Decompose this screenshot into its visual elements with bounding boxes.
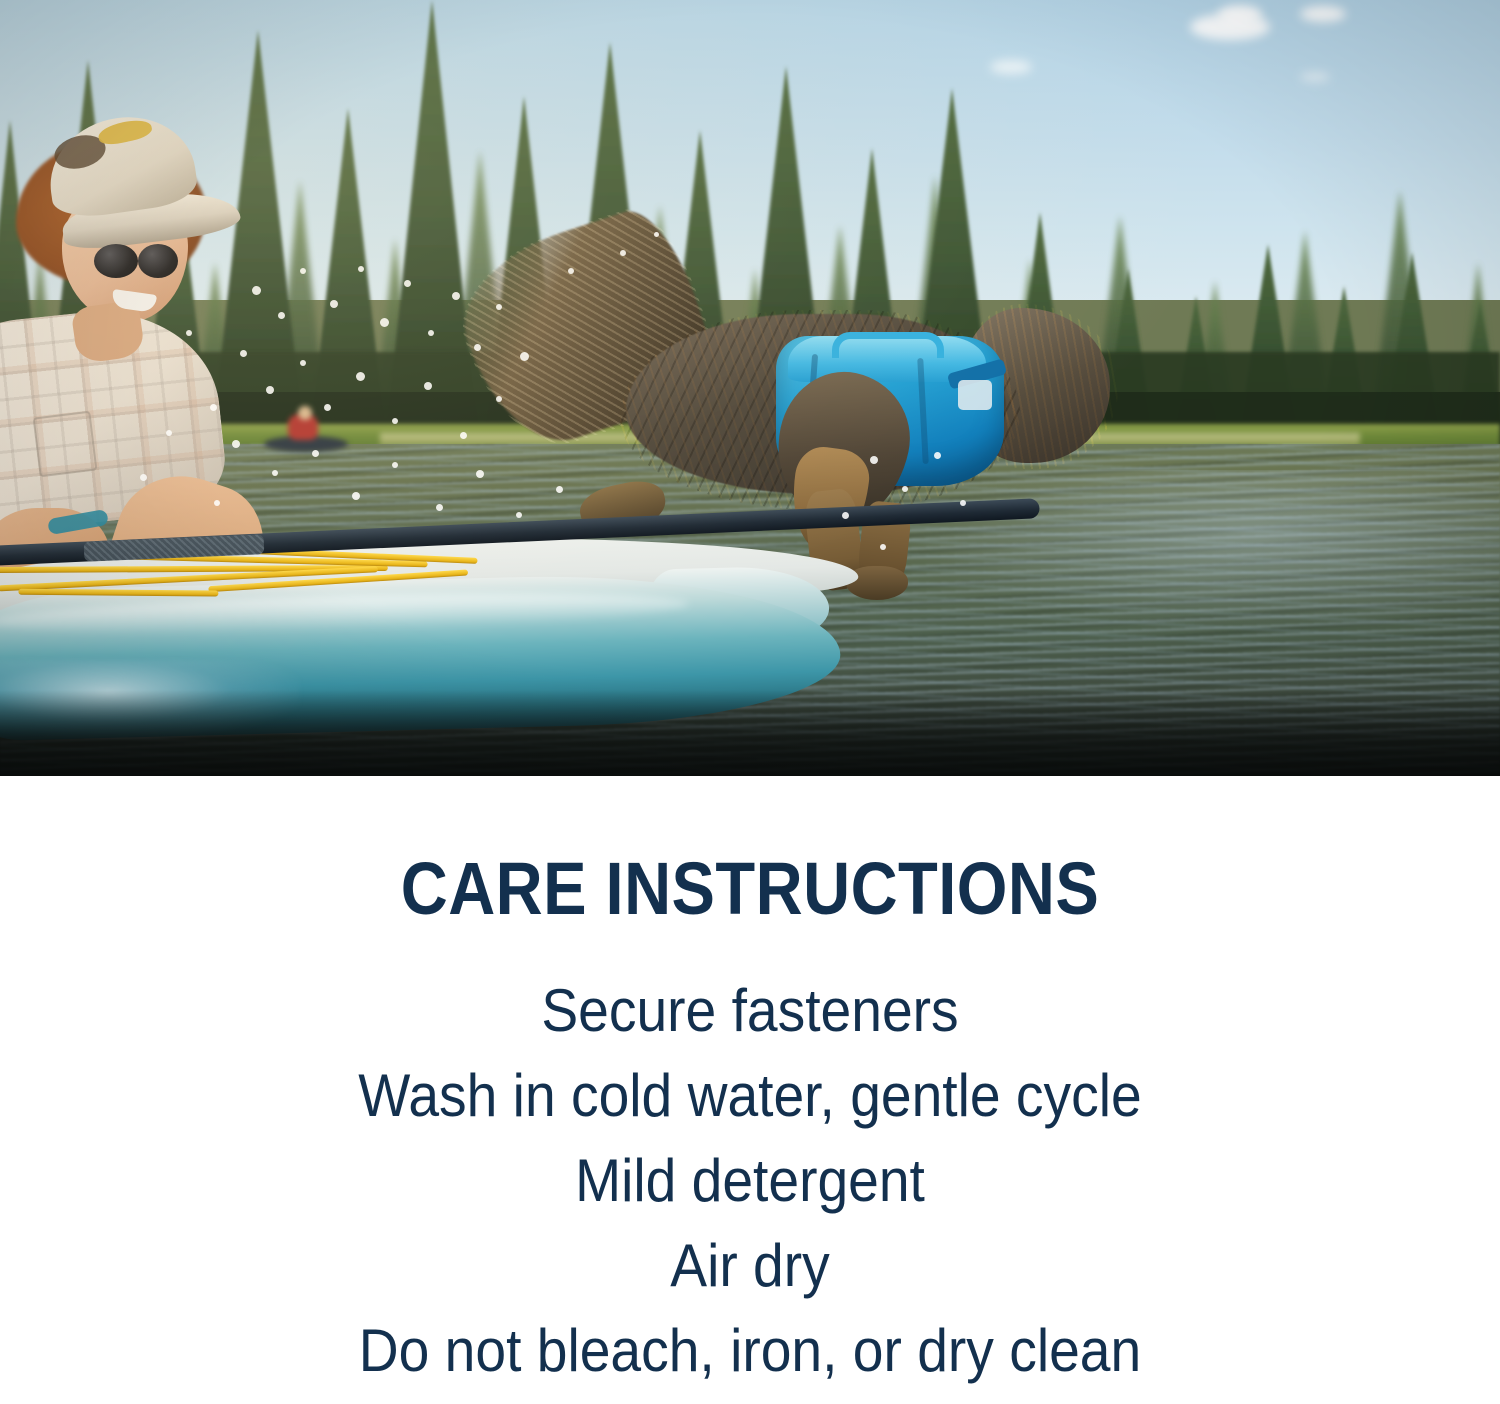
sunglasses xyxy=(94,244,188,278)
care-instruction-item: Air dry xyxy=(60,1223,1440,1308)
care-instruction-item: Mild detergent xyxy=(60,1138,1440,1223)
woman-on-paddleboard xyxy=(0,96,320,576)
hero-photo xyxy=(0,0,1500,776)
page-title: CARE INSTRUCTIONS xyxy=(90,852,1410,926)
life-jacket-handle xyxy=(832,332,944,358)
care-instruction-item: Do not bleach, iron, or dry clean xyxy=(60,1308,1440,1393)
care-instruction-item: Wash in cold water, gentle cycle xyxy=(60,1053,1440,1138)
care-instruction-list: Secure fasteners Wash in cold water, gen… xyxy=(0,968,1500,1393)
life-jacket-buckle xyxy=(958,380,992,410)
care-instructions-section: CARE INSTRUCTIONS Secure fasteners Wash … xyxy=(0,776,1500,1404)
care-instruction-item: Secure fasteners xyxy=(60,968,1440,1053)
care-instructions-page: CARE INSTRUCTIONS Secure fasteners Wash … xyxy=(0,0,1500,1404)
